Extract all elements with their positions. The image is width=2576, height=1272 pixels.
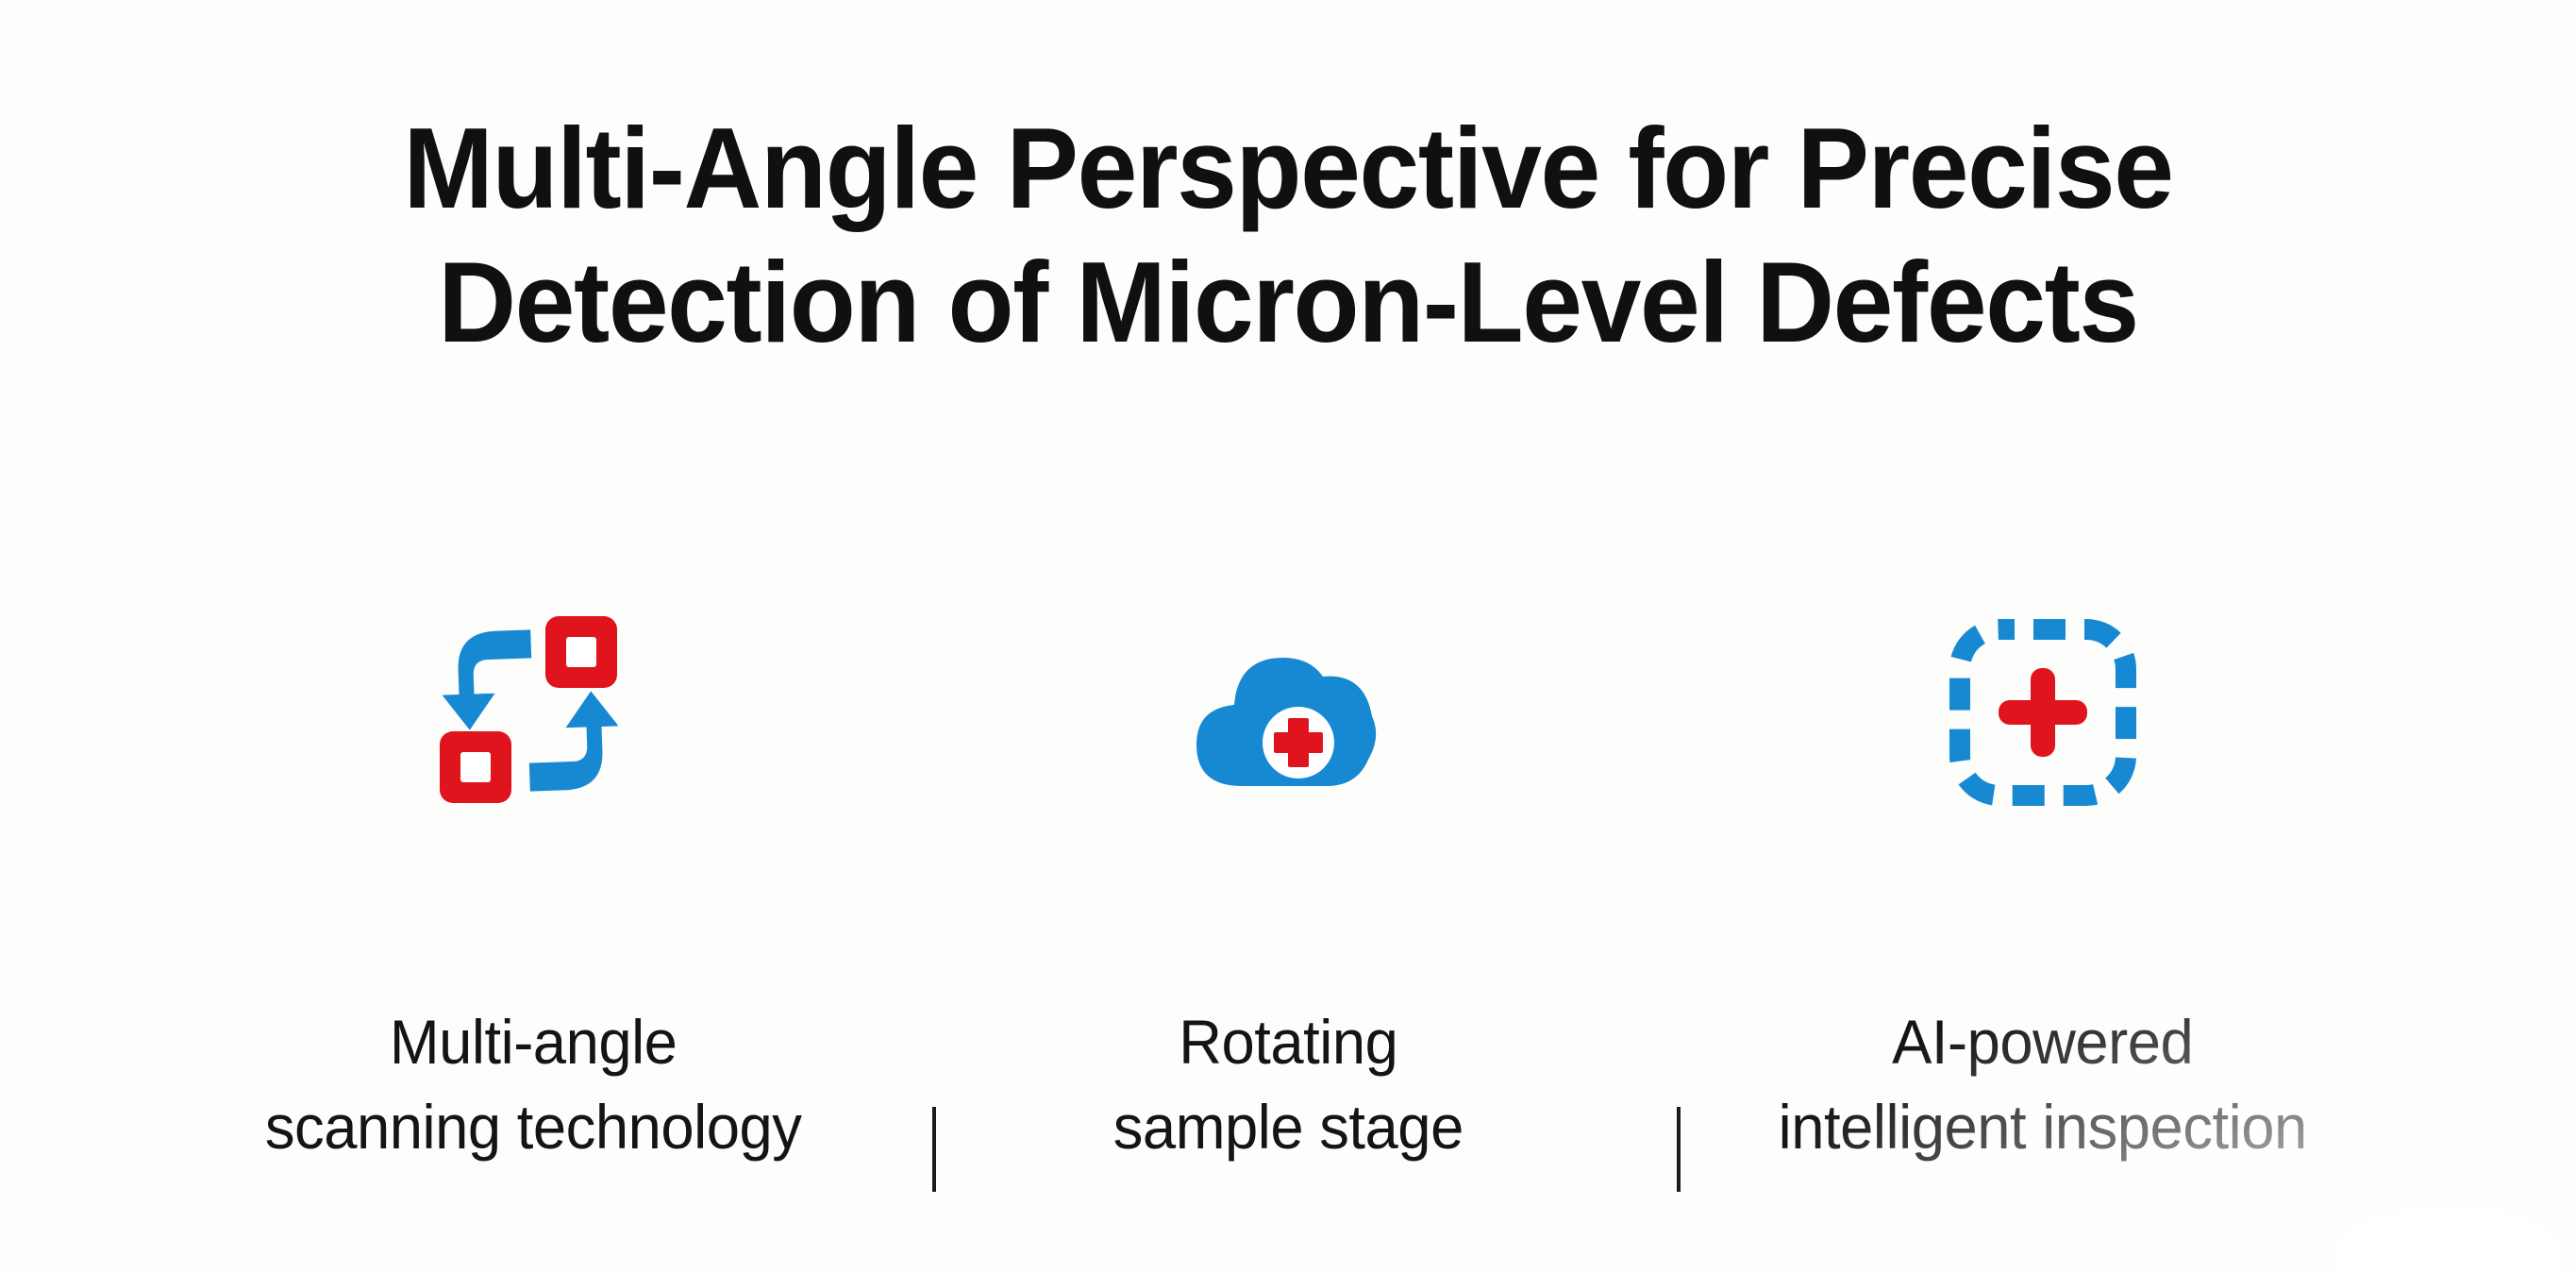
slide-canvas: Multi-Angle Perspective for Precise Dete…: [0, 0, 2576, 1272]
caption-line-2: sample stage: [1112, 1085, 1463, 1170]
caption-line-2: scanning technology: [265, 1085, 802, 1170]
multi-angle-scanning-icon: [425, 604, 642, 821]
caption-line-1: Rotating: [1112, 1000, 1463, 1085]
feature-caption: Rotating sample stage: [1112, 1000, 1463, 1170]
page-title: Multi-Angle Perspective for Precise Dete…: [0, 102, 2576, 369]
divider-2: [1677, 1107, 1681, 1192]
title-line-1: Multi-Angle Perspective for Precise: [255, 102, 2321, 236]
red-square-bottom-left: [440, 731, 511, 803]
divider-1: [932, 1107, 936, 1192]
feature-multi-angle-scanning: Multi-angle scanning technology: [156, 604, 911, 1170]
feature-caption: AI-powered intelligent inspection: [1779, 1000, 2307, 1170]
red-square-top-right: [545, 616, 617, 688]
feature-ai-inspection: AI-powered intelligent inspection: [1665, 604, 2420, 1170]
blue-arrow-up-right: [527, 690, 621, 791]
feature-row: Multi-angle scanning technology: [0, 604, 2576, 1170]
feature-caption: Multi-angle scanning technology: [265, 1000, 802, 1170]
caption-line-1: AI-powered: [1779, 1000, 2307, 1085]
ai-intelligent-inspection-icon: [1934, 604, 2151, 821]
rotating-sample-stage-icon: [1179, 604, 1397, 821]
blue-arrow-down-left: [440, 629, 534, 730]
title-line-2: Detection of Micron-Level Defects: [255, 236, 2321, 370]
red-plus-icon: [1999, 668, 2087, 757]
feature-rotating-sample-stage: Rotating sample stage: [911, 604, 1665, 1170]
caption-line-1: Multi-angle: [265, 1000, 802, 1085]
caption-line-2: intelligent inspection: [1779, 1085, 2307, 1170]
